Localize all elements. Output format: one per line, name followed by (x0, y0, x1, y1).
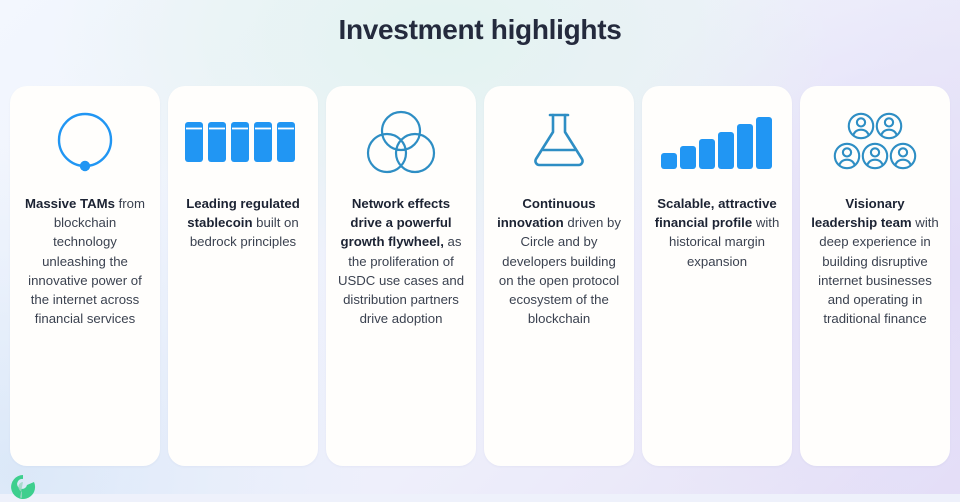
team-avatars-icon (800, 86, 950, 194)
page-title: Investment highlights (0, 13, 960, 47)
highlight-card-heading: Network effects drive a powerful growth … (341, 196, 452, 249)
highlight-card-body: from blockchain technology unleashing th… (28, 196, 145, 326)
highlight-card-leadership-team[interactable]: Visionary leadership team with deep expe… (800, 86, 950, 466)
circle-brand-logo (8, 472, 38, 502)
highlight-card-text: Scalable, attractive financial profile w… (642, 194, 792, 271)
highlight-card-massive-tams[interactable]: Massive TAMs from blockchain technology … (10, 86, 160, 466)
growth-bar-chart-icon (642, 86, 792, 194)
highlight-card-body: driven by Circle and by developers build… (499, 215, 621, 326)
slide-background: Investment highlights Massive TAMs from … (0, 0, 960, 494)
highlight-card-leading-regulated-stablecoin[interactable]: Leading regulated stablecoin built on be… (168, 86, 318, 466)
highlight-card-text: Continuous innovation driven by Circle a… (484, 194, 634, 328)
highlight-card-text: Network effects drive a powerful growth … (326, 194, 476, 328)
highlight-card-heading: Visionary leadership team (811, 196, 911, 230)
circle-dot-icon (10, 86, 160, 194)
highlights-card-row: Massive TAMs from blockchain technology … (10, 86, 950, 466)
highlight-card-text: Leading regulated stablecoin built on be… (168, 194, 318, 252)
flask-icon (484, 86, 634, 194)
pillars-icon (168, 86, 318, 194)
venn-three-circles-icon (326, 86, 476, 194)
highlight-card-network-effects[interactable]: Network effects drive a powerful growth … (326, 86, 476, 466)
highlight-card-body: with deep experience in building disrupt… (818, 215, 939, 326)
highlight-card-heading: Massive TAMs (25, 196, 115, 211)
highlight-card-text: Visionary leadership team with deep expe… (800, 194, 950, 328)
highlight-card-financial-profile[interactable]: Scalable, attractive financial profile w… (642, 86, 792, 466)
highlight-card-text: Massive TAMs from blockchain technology … (10, 194, 160, 328)
highlight-card-continuous-innovation[interactable]: Continuous innovation driven by Circle a… (484, 86, 634, 466)
